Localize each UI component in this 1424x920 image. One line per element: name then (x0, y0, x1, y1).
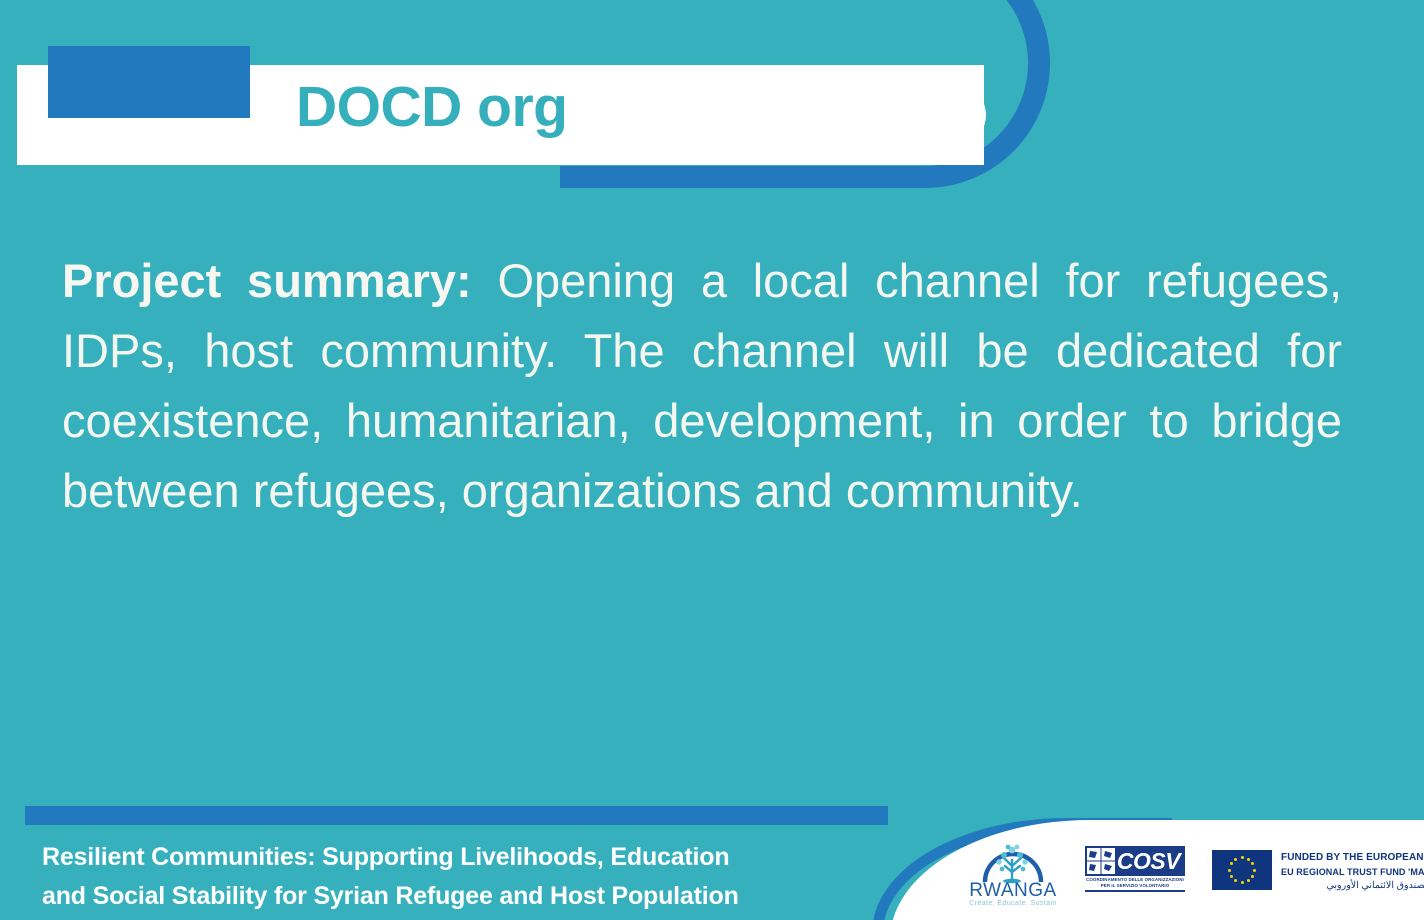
cosv-map-glyph-icon (1087, 848, 1115, 874)
footer-project-title: Resilient Communities: Supporting Liveli… (42, 838, 872, 916)
logo-rwanga-tagline: Create. Educate. Sustain (963, 900, 1063, 907)
logo-eu-text: FUNDED BY THE EUROPEAN UNION EU REGIONAL… (1281, 850, 1424, 893)
logo-eu-line-2: EU REGIONAL TRUST FUND 'MADAD' (1281, 865, 1424, 879)
footer-project-title-line-2: and Social Stability for Syrian Refugee … (42, 877, 872, 916)
tree-in-circle-icon (963, 832, 1063, 886)
logo-rwanga: RWANGA Create. Educate. Sustain (963, 832, 1063, 916)
eu-flag-icon (1212, 850, 1272, 890)
header-white-banner-rounded-cap (790, 65, 986, 165)
project-summary-label: Project summary: (62, 254, 472, 307)
footer-project-title-line-1: Resilient Communities: Supporting Liveli… (42, 838, 872, 877)
logo-cosv-underline (1085, 890, 1185, 892)
project-summary-paragraph: Project summary: Opening a local channel… (62, 246, 1342, 526)
logo-european-union: FUNDED BY THE EUROPEAN UNION EU REGIONAL… (1212, 850, 1412, 898)
logo-rwanga-wordmark: RWANGA (963, 880, 1063, 902)
logo-cosv-wordmark: COSV (1115, 848, 1182, 874)
logo-cosv-subtitle: COORDINAMENTO DELLE ORGANIZZAZIONI PER I… (1085, 877, 1185, 888)
logo-eu-line-3-arabic: "مدد" : الصندوق الائتماني الأوروبي (1281, 879, 1424, 893)
footer-blue-rule (25, 806, 888, 825)
logo-cosv-subtitle-line-1: COORDINAMENTO DELLE ORGANIZZAZIONI (1085, 877, 1185, 883)
logo-cosv-mark: COSV (1085, 846, 1185, 876)
logo-cosv: COSV COORDINAMENTO DELLE ORGANIZZAZIONI … (1085, 846, 1185, 896)
slide-header: DOCD org (0, 0, 1424, 200)
header-blue-block-decoration (48, 46, 250, 118)
page-title: DOCD org (296, 76, 567, 139)
logo-eu-line-1: FUNDED BY THE EUROPEAN UNION (1281, 851, 1424, 865)
presentation-slide: DOCD org Project summary: Opening a loca… (0, 0, 1424, 920)
logo-cosv-subtitle-line-2: PER IL SERVIZIO VOLONTARIO (1085, 883, 1185, 889)
